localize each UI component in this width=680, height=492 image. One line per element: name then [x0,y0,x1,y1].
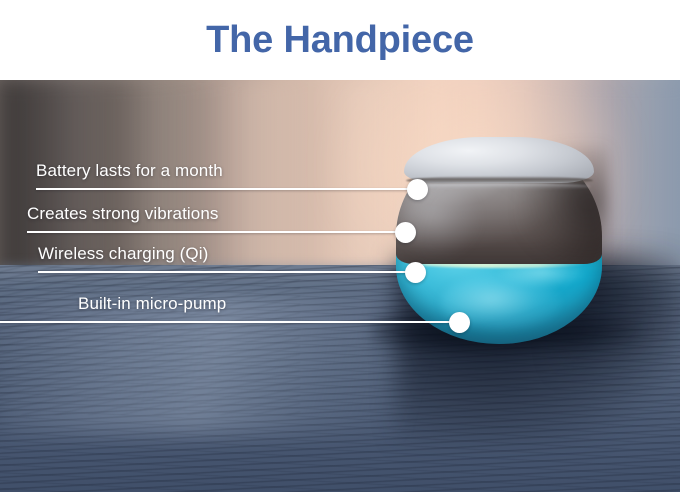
callout-dot-battery [407,179,428,200]
callout-leader-line-battery [36,188,417,190]
callout-leader-line-wireless-charging [38,271,415,273]
product-photo: Battery lasts for a month Creates strong… [0,80,680,492]
callout-label-vibrations: Creates strong vibrations [27,205,218,222]
callout-label-micro-pump: Built-in micro-pump [78,295,226,312]
callout-dot-vibrations [395,222,416,243]
callout-dot-micro-pump [449,312,470,333]
callout-dot-wireless-charging [405,262,426,283]
callout-label-battery: Battery lasts for a month [36,162,223,179]
handpiece-infographic: The Handpiece B [0,0,680,492]
callout-leader-line-micro-pump [0,321,459,323]
page-title: The Handpiece [206,21,474,59]
header-band: The Handpiece [0,0,680,80]
device-seam-highlight [408,183,591,190]
callout-label-wireless-charging: Wireless charging (Qi) [38,245,208,262]
callout-leader-line-vibrations [27,231,405,233]
